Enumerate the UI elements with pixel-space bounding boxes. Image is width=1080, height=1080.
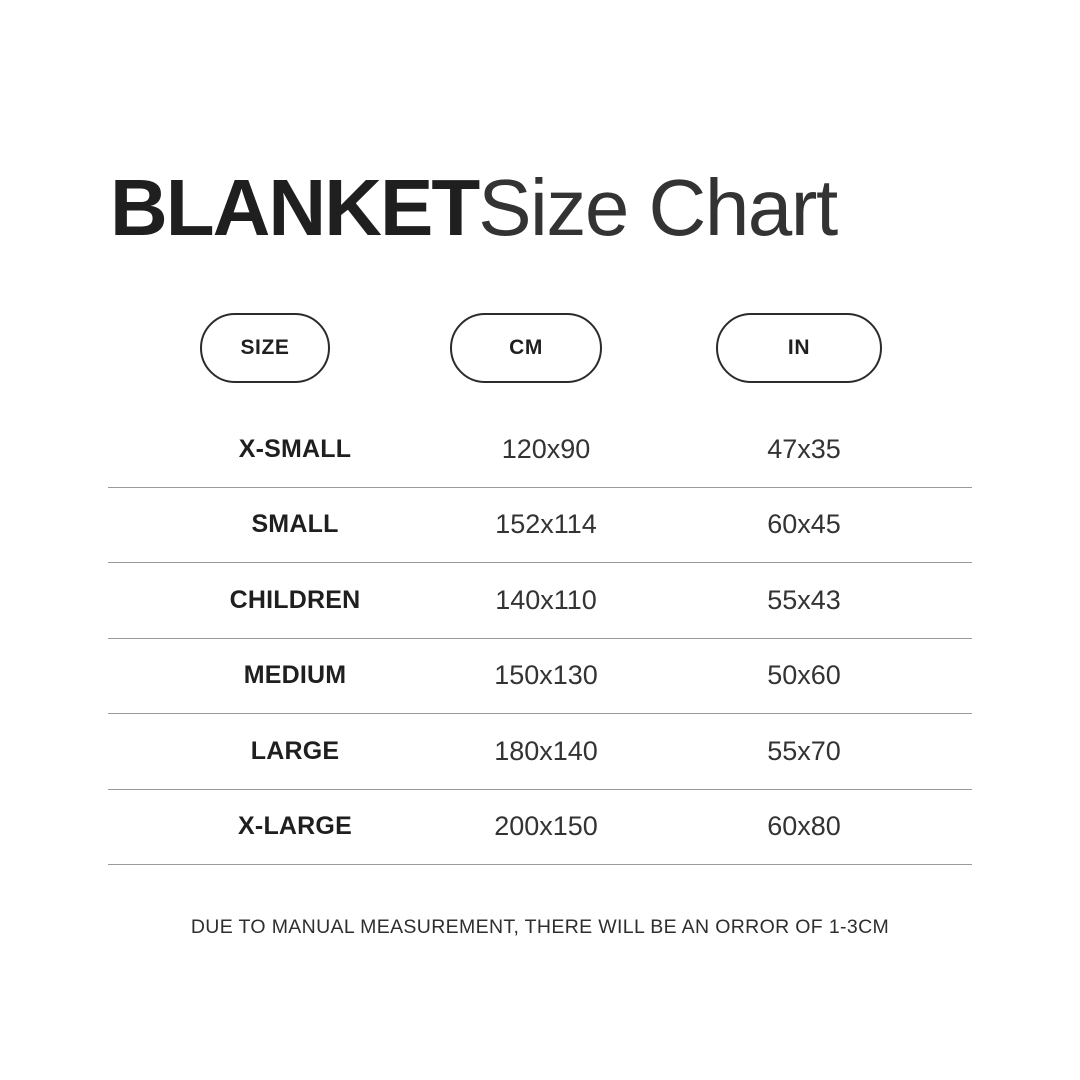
table-row: X-SMALL 120x90 47x35 [108,412,972,488]
table-header-row: SIZE CM IN [0,313,1080,385]
cell-cm: 200x150 [438,790,654,865]
cell-size: CHILDREN [182,563,408,638]
cell-cm: 150x130 [438,639,654,714]
column-header-cm: CM [450,313,602,383]
table-row: SMALL 152x114 60x45 [108,488,972,564]
cell-in: 55x43 [694,563,914,638]
cell-cm: 180x140 [438,714,654,789]
cell-in: 47x35 [694,412,914,487]
cell-in: 55x70 [694,714,914,789]
column-header-in: IN [716,313,882,383]
page-title-light: Size Chart [478,163,836,252]
cell-cm: 152x114 [438,488,654,563]
column-header-in-label: IN [788,336,810,360]
cell-size: MEDIUM [182,639,408,714]
size-table: X-SMALL 120x90 47x35 SMALL 152x114 60x45… [108,412,972,865]
cell-size: LARGE [182,714,408,789]
table-row: MEDIUM 150x130 50x60 [108,639,972,715]
cell-in: 60x45 [694,488,914,563]
cell-size: X-LARGE [182,790,408,865]
column-header-size-label: SIZE [240,336,289,360]
cell-in: 50x60 [694,639,914,714]
cell-in: 60x80 [694,790,914,865]
table-row: LARGE 180x140 55x70 [108,714,972,790]
cell-cm: 120x90 [438,412,654,487]
cell-cm: 140x110 [438,563,654,638]
size-chart-page: BLANKETSize Chart SIZE CM IN X-SMALL 120… [0,0,1080,1080]
page-title-bold: BLANKET [110,163,478,252]
measurement-disclaimer: DUE TO MANUAL MEASUREMENT, THERE WILL BE… [0,916,1080,939]
page-title: BLANKETSize Chart [110,168,837,248]
cell-size: X-SMALL [182,412,408,487]
column-header-size: SIZE [200,313,330,383]
table-row: CHILDREN 140x110 55x43 [108,563,972,639]
table-row: X-LARGE 200x150 60x80 [108,790,972,866]
cell-size: SMALL [182,488,408,563]
column-header-cm-label: CM [509,336,543,360]
